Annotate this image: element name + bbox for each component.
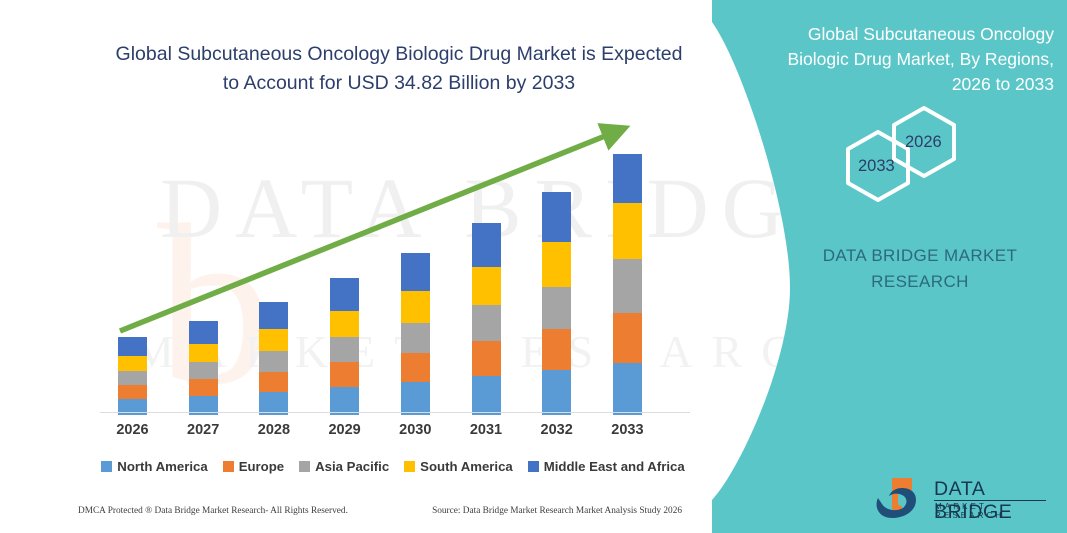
footer-copyright: DMCA Protected ® Data Bridge Market Rese… xyxy=(78,506,348,516)
legend-label: Middle East and Africa xyxy=(544,459,685,474)
stacked-bar-2027[interactable] xyxy=(189,321,218,415)
logo-text-sub: MARKET RESEARCH xyxy=(935,502,1047,520)
x-axis-label-2032: 2032 xyxy=(527,422,587,438)
bar-segment-europe[interactable] xyxy=(613,313,642,363)
footer-source: Source: Data Bridge Market Research Mark… xyxy=(432,506,682,516)
chart-title: Global Subcutaneous Oncology Biologic Dr… xyxy=(110,40,688,98)
stacked-bar-2026[interactable] xyxy=(118,337,147,415)
bar-segment-south-america[interactable] xyxy=(613,203,642,259)
hexagon-2033-label: 2033 xyxy=(858,157,895,176)
bar-segment-europe[interactable] xyxy=(189,379,218,396)
x-axis-label-2028: 2028 xyxy=(244,422,304,438)
bar-segment-asia-pacific[interactable] xyxy=(613,259,642,313)
bar-segment-middle-east-and-africa[interactable] xyxy=(472,223,501,267)
bar-segment-north-america[interactable] xyxy=(472,376,501,415)
panel-title: Global Subcutaneous Oncology Biologic Dr… xyxy=(772,22,1054,97)
bar-segment-europe[interactable] xyxy=(542,329,571,370)
stacked-bar-2032[interactable] xyxy=(542,192,571,415)
hexagon-2026-label: 2026 xyxy=(905,133,942,152)
legend-item-north-america[interactable]: North America xyxy=(101,459,207,474)
logo-bridge-icon xyxy=(872,476,932,520)
legend-swatch-icon xyxy=(528,461,539,472)
x-axis-label-2026: 2026 xyxy=(103,422,163,438)
legend-label: North America xyxy=(117,459,207,474)
bar-segment-asia-pacific[interactable] xyxy=(401,323,430,353)
bar-segment-asia-pacific[interactable] xyxy=(330,337,359,362)
legend-swatch-icon xyxy=(404,461,415,472)
bar-segment-north-america[interactable] xyxy=(542,370,571,415)
chart-legend: North AmericaEuropeAsia PacificSouth Ame… xyxy=(98,455,688,477)
x-axis-label-2033: 2033 xyxy=(597,422,657,438)
legend-label: Asia Pacific xyxy=(315,459,389,474)
x-axis-label-2031: 2031 xyxy=(456,422,516,438)
bar-segment-middle-east-and-africa[interactable] xyxy=(613,154,642,203)
bar-segment-middle-east-and-africa[interactable] xyxy=(401,253,430,291)
bar-segment-middle-east-and-africa[interactable] xyxy=(118,337,147,356)
bar-segment-europe[interactable] xyxy=(118,385,147,399)
stacked-bar-2031[interactable] xyxy=(472,223,501,415)
legend-item-asia-pacific[interactable]: Asia Pacific xyxy=(299,459,389,474)
brand-name: DATA BRIDGE MARKET RESEARCH xyxy=(790,243,1050,295)
bar-segment-middle-east-and-africa[interactable] xyxy=(330,278,359,311)
bar-segment-north-america[interactable] xyxy=(613,363,642,415)
logo-divider xyxy=(934,500,1046,501)
legend-swatch-icon xyxy=(101,461,112,472)
stacked-bar-group xyxy=(100,115,690,415)
bar-segment-south-america[interactable] xyxy=(118,356,147,371)
legend-label: Europe xyxy=(239,459,284,474)
bar-segment-south-america[interactable] xyxy=(330,311,359,337)
legend-swatch-icon xyxy=(223,461,234,472)
bar-segment-north-america[interactable] xyxy=(330,387,359,415)
stacked-bar-2033[interactable] xyxy=(613,154,642,415)
bar-segment-asia-pacific[interactable] xyxy=(472,305,501,341)
footer: DMCA Protected ® Data Bridge Market Rese… xyxy=(78,506,688,516)
bar-segment-europe[interactable] xyxy=(259,372,288,392)
legend-swatch-icon xyxy=(299,461,310,472)
bar-segment-middle-east-and-africa[interactable] xyxy=(189,321,218,344)
x-axis-label-2030: 2030 xyxy=(385,422,445,438)
bar-segment-asia-pacific[interactable] xyxy=(259,351,288,372)
bar-segment-asia-pacific[interactable] xyxy=(542,287,571,329)
x-axis-labels: 20262027202820292030203120322033 xyxy=(100,422,690,444)
x-axis-line xyxy=(100,412,690,413)
bar-segment-north-america[interactable] xyxy=(401,382,430,415)
bar-segment-middle-east-and-africa[interactable] xyxy=(542,192,571,242)
bar-segment-middle-east-and-africa[interactable] xyxy=(259,302,288,329)
bar-segment-europe[interactable] xyxy=(472,341,501,376)
bar-segment-south-america[interactable] xyxy=(189,344,218,362)
chart-plot-area xyxy=(100,115,690,415)
bar-segment-asia-pacific[interactable] xyxy=(189,362,218,379)
data-bridge-logo: DATA BRIDGE MARKET RESEARCH xyxy=(872,476,1047,520)
bar-segment-south-america[interactable] xyxy=(472,267,501,305)
legend-item-europe[interactable]: Europe xyxy=(223,459,284,474)
hexagon-group: 2026 2033 xyxy=(820,104,1030,204)
legend-label: South America xyxy=(420,459,513,474)
x-axis-label-2029: 2029 xyxy=(315,422,375,438)
stacked-bar-2030[interactable] xyxy=(401,253,430,415)
bar-segment-south-america[interactable] xyxy=(542,242,571,287)
x-axis-label-2027: 2027 xyxy=(173,422,233,438)
legend-item-middle-east-and-africa[interactable]: Middle East and Africa xyxy=(528,459,685,474)
bar-segment-europe[interactable] xyxy=(401,353,430,382)
bar-segment-south-america[interactable] xyxy=(259,329,288,351)
infographic-slide: b DATA BRIDGE MARKET RESEARCH Global Sub… xyxy=(0,0,1067,533)
stacked-bar-2028[interactable] xyxy=(259,302,288,415)
bar-segment-europe[interactable] xyxy=(330,362,359,387)
stacked-bar-2029[interactable] xyxy=(330,278,359,415)
bar-segment-south-america[interactable] xyxy=(401,291,430,323)
bar-segment-asia-pacific[interactable] xyxy=(118,371,147,385)
legend-item-south-america[interactable]: South America xyxy=(404,459,513,474)
